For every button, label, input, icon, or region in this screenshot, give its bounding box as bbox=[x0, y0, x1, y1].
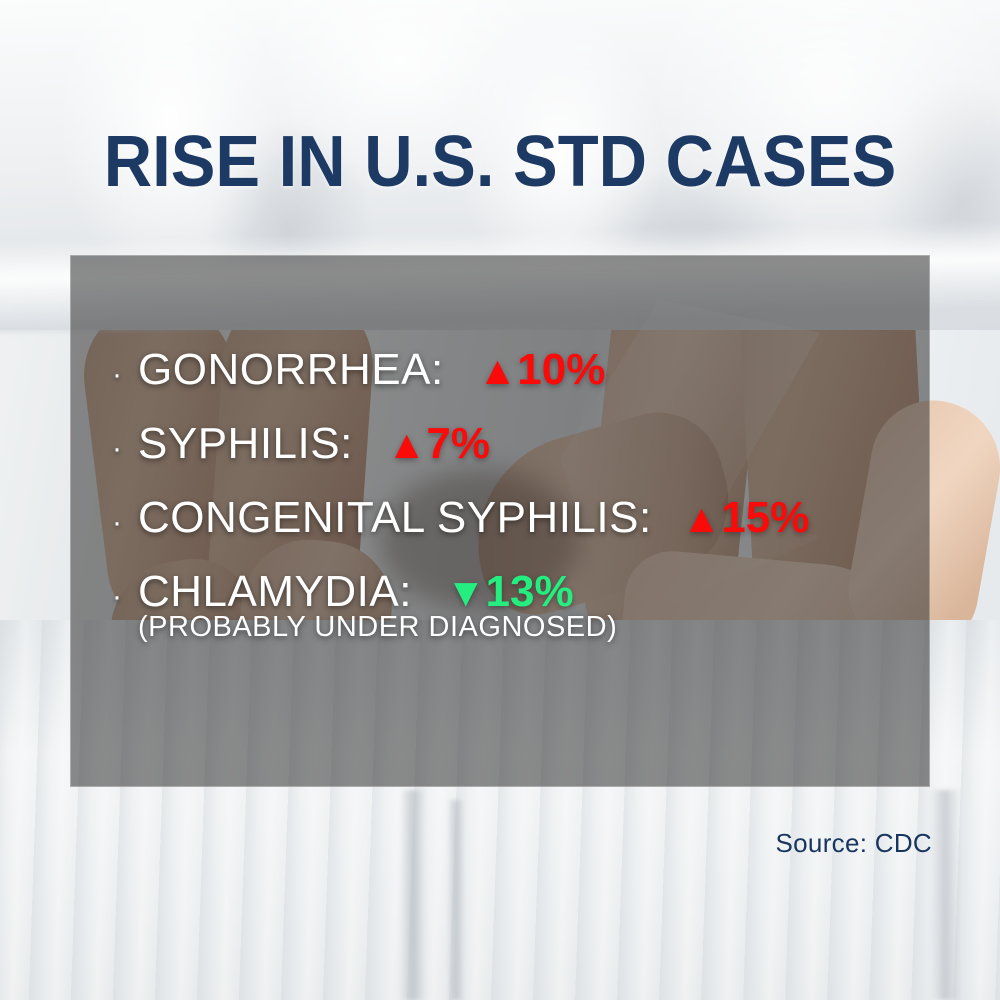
bullet-icon: · bbox=[112, 360, 138, 390]
stat-row-chlamydia: · CHLAMYDIA: ▼13% bbox=[112, 567, 912, 617]
stat-value-syphilis: ▲7% bbox=[387, 419, 490, 469]
trend-down-icon: ▼ bbox=[446, 571, 486, 615]
stat-label-syphilis: SYPHILIS: bbox=[138, 419, 353, 469]
stat-row-congenital-syphilis: · CONGENITAL SYPHILIS: ▲15% bbox=[112, 493, 912, 543]
stat-value-congenital-syphilis: ▲15% bbox=[682, 493, 810, 543]
stat-percent-chlamydia: 13% bbox=[486, 567, 574, 616]
bedsheet-crease-a bbox=[400, 790, 426, 1000]
infographic-canvas: RISE IN U.S. STD CASES · GONORRHEA: ▲10%… bbox=[0, 0, 1000, 1000]
stat-label-congenital-syphilis: CONGENITAL SYPHILIS: bbox=[138, 493, 652, 543]
stats-list: · GONORRHEA: ▲10% · SYPHILIS: ▲7% · CONG… bbox=[112, 345, 912, 644]
stat-percent-congenital-syphilis: 15% bbox=[721, 493, 809, 542]
stat-value-chlamydia: ▼13% bbox=[446, 567, 574, 617]
page-title: RISE IN U.S. STD CASES bbox=[35, 126, 965, 198]
bullet-icon: · bbox=[112, 508, 138, 538]
stat-label-chlamydia: CHLAMYDIA: bbox=[138, 567, 412, 617]
stat-row-gonorrhea: · GONORRHEA: ▲10% bbox=[112, 345, 912, 395]
bullet-icon: · bbox=[112, 434, 138, 464]
trend-up-icon: ▲ bbox=[478, 349, 518, 393]
stat-value-gonorrhea: ▲10% bbox=[478, 345, 606, 395]
stat-percent-gonorrhea: 10% bbox=[517, 345, 605, 394]
bullet-icon: · bbox=[112, 582, 138, 612]
chlamydia-note: (PROBABLY UNDER DIAGNOSED) bbox=[138, 611, 912, 644]
trend-up-icon: ▲ bbox=[387, 423, 427, 467]
bedsheet-crease-c bbox=[930, 790, 960, 1000]
bedsheet-crease-b bbox=[447, 800, 465, 1000]
trend-up-icon: ▲ bbox=[682, 497, 722, 541]
stat-label-gonorrhea: GONORRHEA: bbox=[138, 345, 444, 395]
source-attribution: Source: CDC bbox=[776, 828, 932, 859]
stat-percent-syphilis: 7% bbox=[426, 419, 490, 468]
stat-row-syphilis: · SYPHILIS: ▲7% bbox=[112, 419, 912, 469]
